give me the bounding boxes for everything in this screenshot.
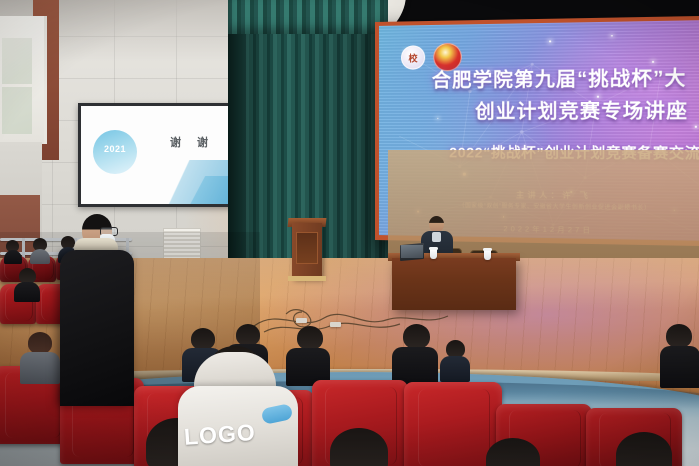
projection-screen: 2021 谢 谢 <box>78 103 242 207</box>
led-title-line-1: 合肥学院第九届“挑战杯”大 <box>379 62 699 93</box>
audience-member <box>440 340 470 380</box>
audience-body <box>20 352 60 384</box>
audience-member <box>20 332 60 380</box>
window-mullion <box>2 84 32 87</box>
audience-head <box>403 324 430 349</box>
audience-head <box>486 438 540 466</box>
standing-attendee <box>60 214 134 404</box>
thanks-char-1: 谢 <box>170 134 181 150</box>
curtain-valance <box>228 0 388 34</box>
hoodie-attendee: LOGO <box>178 352 298 466</box>
audience-member <box>14 268 40 296</box>
audience-head <box>666 324 692 348</box>
audience-head <box>191 328 215 350</box>
auditorium-scene: 2021 谢 谢 <box>0 0 699 466</box>
audience-member <box>30 238 50 260</box>
projection-thanks-text: 谢 谢 <box>143 134 235 150</box>
audience-member <box>4 240 22 260</box>
audience-member <box>330 428 388 466</box>
audience-member <box>660 324 699 386</box>
audience-head <box>28 332 52 354</box>
projection-screen-surface: 2021 谢 谢 <box>81 106 239 204</box>
audience-member <box>486 438 540 466</box>
audience-head <box>616 432 672 466</box>
audience-head <box>297 326 323 350</box>
audience-member <box>392 324 438 382</box>
presenter-head <box>429 216 444 232</box>
audience-body <box>4 250 22 264</box>
audience-body <box>440 356 470 382</box>
side-window <box>0 16 47 144</box>
standing-attendee-coat <box>60 250 134 406</box>
thanks-char-2: 谢 <box>197 134 208 150</box>
audience-head <box>330 428 388 466</box>
led-title-line-2: 创业计划竞赛专场讲座 <box>379 95 699 124</box>
audience-body <box>14 282 40 302</box>
audience-body <box>660 346 699 388</box>
projection-year-label: 2021 <box>93 144 137 154</box>
led-title-block: 合肥学院第九届“挑战杯”大 创业计划竞赛专场讲座 <box>379 62 699 124</box>
audience-member <box>616 432 672 466</box>
audience-body <box>30 249 50 264</box>
audience-head <box>236 324 260 346</box>
